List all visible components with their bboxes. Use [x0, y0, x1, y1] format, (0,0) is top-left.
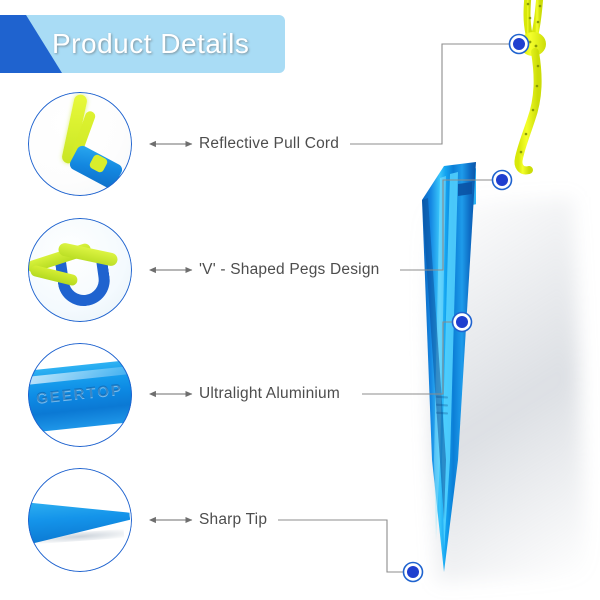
- infographic-page: Product Details: [0, 0, 600, 600]
- feature-label-reflective-pull-cord: Reflective Pull Cord: [199, 135, 339, 153]
- feature-label-sharp-tip: Sharp Tip: [199, 511, 267, 529]
- feature-label-v-shaped-pegs-design: 'V' - Shaped Pegs Design: [199, 261, 379, 279]
- thumbnail-v-shaped-pegs-design[interactable]: [28, 218, 132, 322]
- page-title: Product Details: [52, 22, 287, 66]
- thumbnail-ultralight-aluminium[interactable]: GEERTOP: [28, 343, 132, 447]
- product-pull-cord: [495, 0, 575, 184]
- thumbnail-image-v-profile: [28, 218, 132, 322]
- connector-sharp-tip: [278, 520, 403, 572]
- thumbnail-image-cord: [28, 92, 132, 196]
- feature-label-ultralight-aluminium: Ultralight Aluminium: [199, 385, 340, 403]
- thumbnail-sharp-tip[interactable]: [28, 468, 132, 572]
- connector-reflective-pull-cord: [350, 44, 509, 144]
- thumbnail-image-tip: [28, 468, 132, 572]
- thumbnail-reflective-pull-cord[interactable]: [28, 92, 132, 196]
- thumbnail-image-shaft: GEERTOP: [28, 343, 132, 447]
- product-tent-peg: [406, 160, 476, 580]
